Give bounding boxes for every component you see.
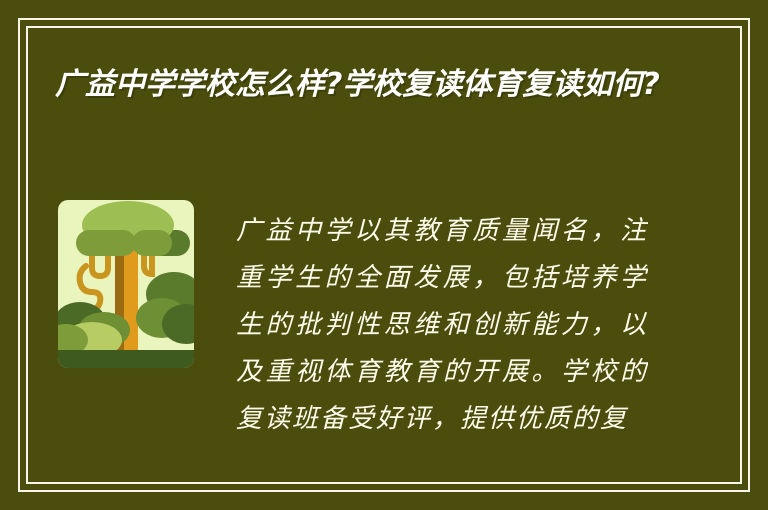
poster-canvas: 广益中学学校怎么样?学校复读体育复读如何?	[0, 0, 768, 510]
page-title: 广益中学学校怎么样?学校复读体育复读如何?	[55, 58, 675, 112]
canopy-left	[76, 230, 136, 256]
tree-illustration	[58, 200, 194, 368]
tree-illustration-svg	[58, 200, 194, 368]
tree-trunk	[124, 240, 138, 368]
ground-strip	[58, 350, 194, 368]
body-paragraph: 广益中学以其教育质量闻名，注重学生的全面发展，包括培养学生的批判性思维和创新能力…	[236, 208, 648, 443]
canopy-right	[132, 230, 172, 256]
